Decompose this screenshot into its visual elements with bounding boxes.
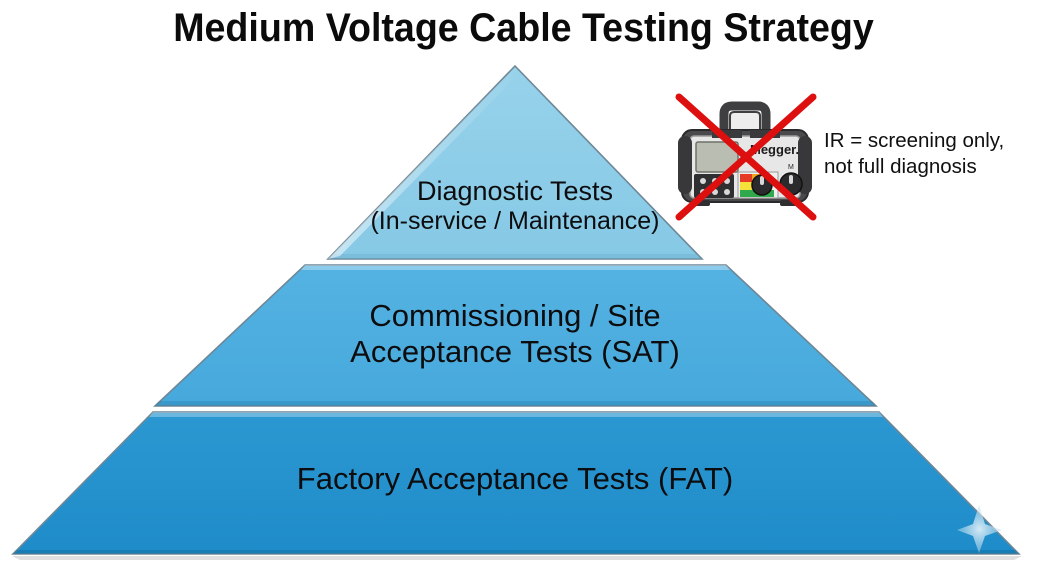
annotation-line2: not full diagnosis [824, 154, 1039, 180]
annotation-line1: IR = screening only, [824, 128, 1039, 154]
pyramid-tier-commissioning[interactable] [155, 265, 876, 406]
megger-insulation-tester-crossed-out: Megger. [672, 92, 818, 222]
pyramid-diagram [0, 0, 1047, 578]
device-illustration: Megger. [672, 92, 818, 222]
device-handle-icon [724, 106, 766, 132]
pyramid-tier-factory[interactable] [13, 412, 1019, 554]
svg-text:M: M [788, 164, 794, 171]
pyramid-tier-diagnostic[interactable] [328, 66, 702, 259]
annotation-ir-note: IR = screening only, not full diagnosis [824, 128, 1039, 180]
pyramid-shadow [12, 556, 1022, 560]
slide-canvas: Medium Voltage Cable Testing Strategy [0, 0, 1047, 578]
